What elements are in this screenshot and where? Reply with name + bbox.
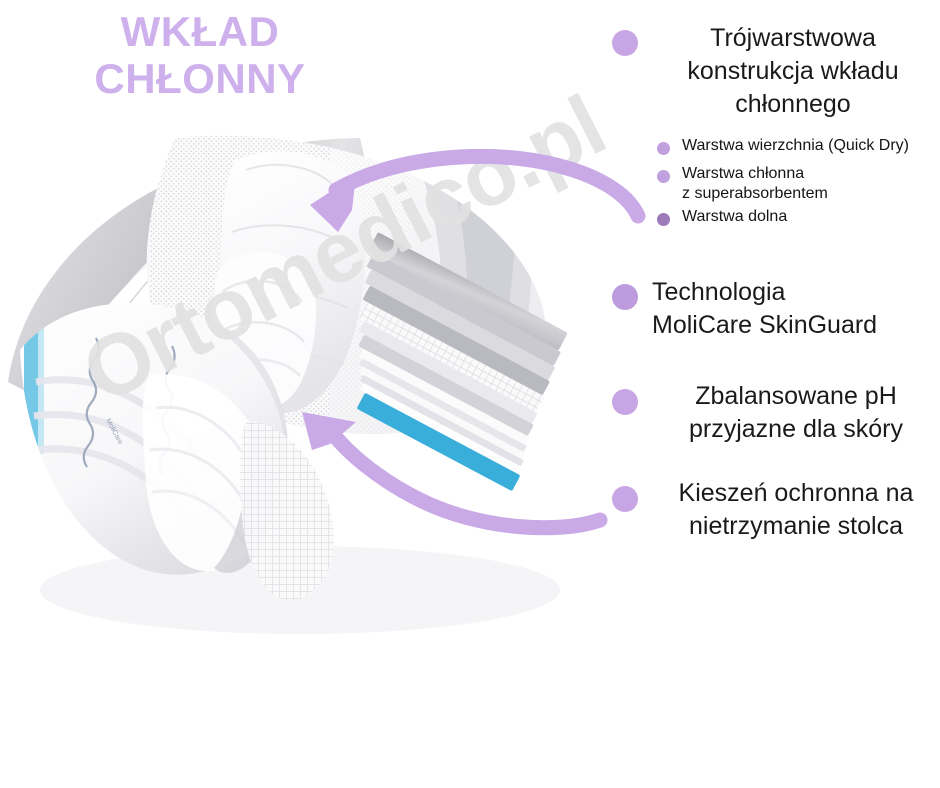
page-title: WKŁAD CHŁONNY	[20, 8, 380, 102]
bullet-dot-icon	[657, 170, 670, 183]
sublayer-item-top[interactable]: Warstwa wierzchnia (Quick Dry)	[655, 136, 940, 162]
bullet-dot-icon	[612, 30, 638, 56]
bullet-dot-icon	[657, 142, 670, 155]
feature-label: Technologia MoliCare SkinGuard	[652, 276, 940, 342]
sublayer-list: Warstwa wierzchnia (Quick Dry) Warstwa c…	[655, 136, 940, 235]
feature-list: Trójwarstwowa konstrukcja wkładu chłonne…	[600, 0, 940, 600]
feature-label: Zbalansowane pH przyjazne dla skóry	[652, 380, 940, 446]
sublayer-label: Warstwa wierzchnia (Quick Dry)	[682, 137, 909, 154]
sublayer-label: Warstwa chłonna z superabsorbentem	[682, 165, 828, 202]
sublayer-item-bottom[interactable]: Warstwa dolna	[655, 207, 940, 233]
feature-label: Kieszeń ochronna na nietrzymanie stolca	[652, 477, 940, 543]
bullet-dot-icon	[612, 486, 638, 512]
bullet-dot-icon	[657, 213, 670, 226]
sublayer-label: Warstwa dolna	[682, 208, 787, 225]
feature-label: Trójwarstwowa konstrukcja wkładu chłonne…	[646, 22, 940, 121]
bullet-dot-icon	[612, 284, 638, 310]
product-image: MoliCare Premium	[0, 120, 620, 640]
bullet-dot-icon	[612, 389, 638, 415]
sublayer-item-absorbent[interactable]: Warstwa chłonna z superabsorbentem	[655, 164, 940, 205]
